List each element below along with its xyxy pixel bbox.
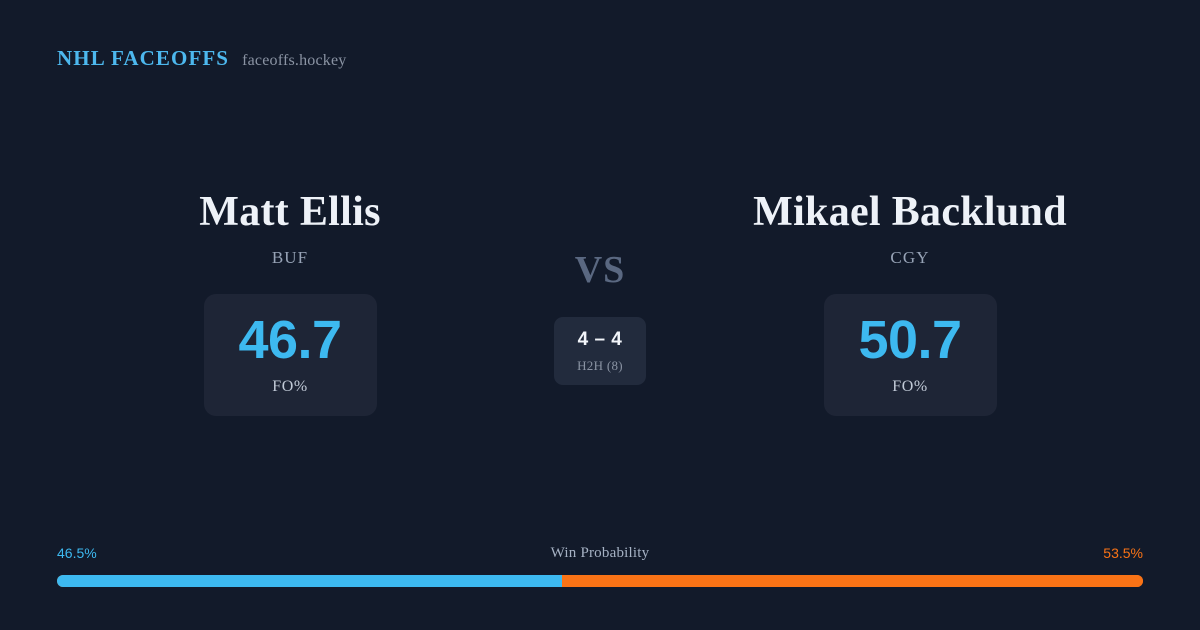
site-header: NHL FACEOFFS faceoffs.hockey — [57, 46, 347, 71]
player-left-name: Matt Ellis — [199, 190, 380, 235]
brand-title: NHL FACEOFFS — [57, 46, 229, 71]
player-left-stat-card: 46.7 FO% — [204, 294, 377, 416]
win-probability-left-fill — [57, 575, 562, 587]
head-to-head-box: 4 – 4 H2H (8) — [554, 317, 646, 385]
win-probability-title: Win Probability — [57, 545, 1143, 562]
win-probability-section: 46.5% Win Probability 53.5% — [57, 543, 1143, 587]
player-left-faceoff-value: 46.7 — [238, 313, 341, 367]
player-right: Mikael Backlund CGY 50.7 FO% — [700, 190, 1120, 416]
player-left: Matt Ellis BUF 46.7 FO% — [80, 190, 500, 416]
player-left-faceoff-label: FO% — [272, 378, 308, 396]
player-right-faceoff-value: 50.7 — [858, 313, 961, 367]
head-to-head-label: H2H (8) — [577, 358, 623, 374]
win-probability-right-fill — [562, 575, 1143, 587]
player-right-team: CGY — [890, 248, 929, 268]
head-to-head-score: 4 – 4 — [578, 329, 623, 351]
faceoff-matchup-card: NHL FACEOFFS faceoffs.hockey Matt Ellis … — [0, 0, 1200, 630]
versus-section: VS 4 – 4 H2H (8) — [500, 190, 700, 385]
player-right-stat-card: 50.7 FO% — [824, 294, 997, 416]
site-domain: faceoffs.hockey — [242, 52, 346, 70]
versus-label: VS — [575, 248, 626, 292]
win-probability-bar — [57, 575, 1143, 587]
player-right-faceoff-label: FO% — [892, 378, 928, 396]
matchup-section: Matt Ellis BUF 46.7 FO% VS 4 – 4 H2H (8)… — [0, 190, 1200, 416]
player-left-team: BUF — [272, 248, 308, 268]
win-probability-labels: 46.5% Win Probability 53.5% — [57, 543, 1143, 563]
player-right-name: Mikael Backlund — [753, 190, 1067, 235]
